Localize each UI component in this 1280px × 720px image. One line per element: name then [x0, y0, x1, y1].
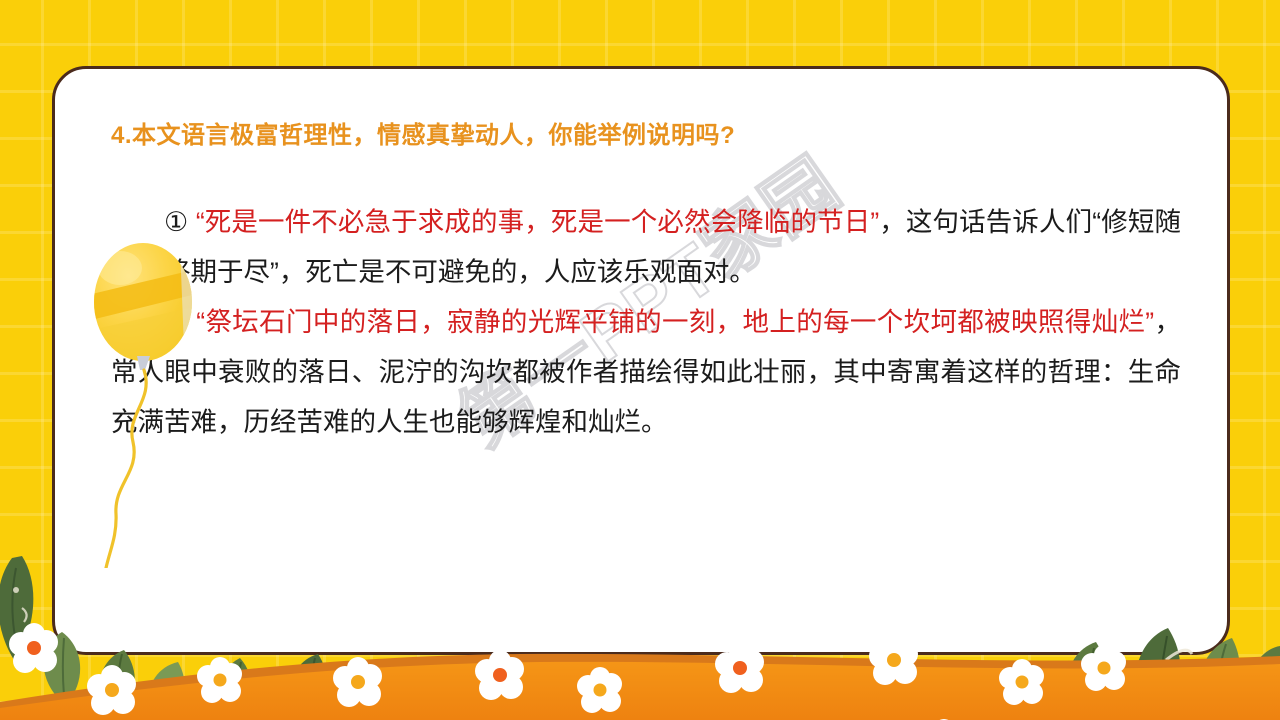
page-title: 4.本文语言极富哲理性，情感真挚动人，你能举例说明吗? [111, 115, 735, 150]
paragraph-2: ② “祭坛石门中的落日，寂静的光辉平铺的一刻，地上的每一个坎坷都被映照得灿烂”，… [111, 297, 1181, 447]
quote-1: “死是一件不必急于求成的事，死是一个必然会降临的节日” [196, 207, 879, 237]
list-marker-1: ① [164, 207, 188, 237]
paragraph-1: ① “死是一件不必急于求成的事，死是一个必然会降临的节日”，这句话告诉人们“修短… [111, 197, 1181, 297]
content-card: 第一PPT家园 4.本文语言极富哲理性，情感真挚动人，你能举例说明吗? ① “死… [52, 66, 1230, 655]
quote-2: “祭坛石门中的落日，寂静的光辉平铺的一刻，地上的每一个坎坷都被映照得灿烂” [196, 307, 1154, 337]
body-text: ① “死是一件不必急于求成的事，死是一个必然会降临的节日”，这句话告诉人们“修短… [111, 197, 1181, 447]
list-marker-2: ② [164, 307, 189, 337]
slide-root: 第一PPT家园 4.本文语言极富哲理性，情感真挚动人，你能举例说明吗? ① “死… [0, 0, 1280, 720]
